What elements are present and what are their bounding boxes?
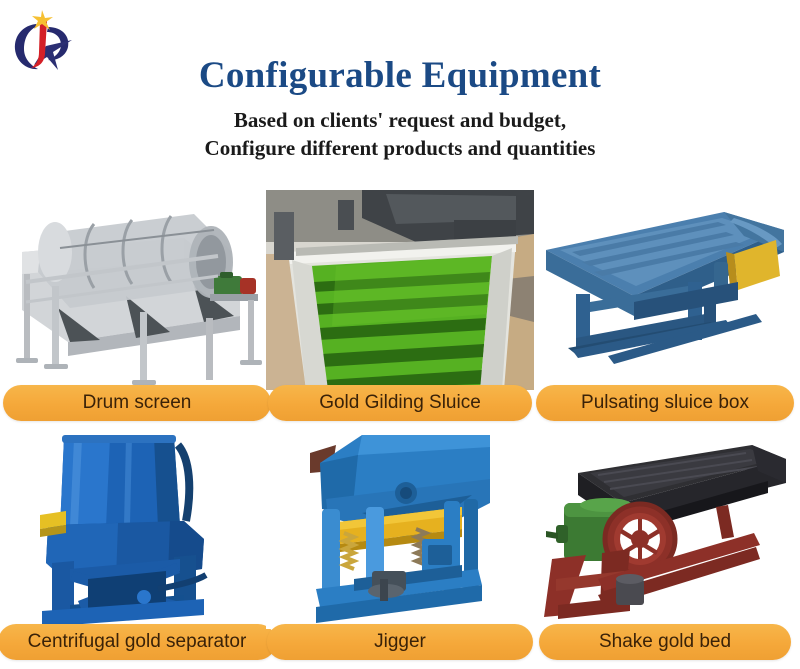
- product-grid: Drum screen: [0, 190, 800, 668]
- product-image-pulsating-sluice-box: [538, 190, 792, 390]
- product-image-drum-screen: [8, 190, 266, 390]
- product-label-shake-gold-bed[interactable]: Shake gold bed: [539, 624, 791, 660]
- product-card-jigger[interactable]: Jigger: [266, 429, 534, 668]
- product-image-centrifugal-gold-separator: [8, 429, 266, 629]
- poster-root: Configurable Equipment Based on clients'…: [0, 0, 800, 669]
- product-label-pulsating-sluice-box[interactable]: Pulsating sluice box: [536, 385, 794, 421]
- product-label-drum-screen[interactable]: Drum screen: [3, 385, 271, 421]
- product-row-2: Centrifugal gold separator: [0, 429, 800, 668]
- product-card-centrifugal-gold-separator[interactable]: Centrifugal gold separator: [8, 429, 266, 668]
- page-subtitle: Based on clients' request and budget, Co…: [0, 107, 800, 162]
- product-image-gold-gilding-sluice: [266, 190, 534, 390]
- product-card-gold-gilding-sluice[interactable]: Gold Gilding Sluice: [266, 190, 534, 429]
- product-card-pulsating-sluice-box[interactable]: Pulsating sluice box: [538, 190, 792, 429]
- product-label-centrifugal-gold-separator[interactable]: Centrifugal gold separator: [0, 624, 276, 660]
- subtitle-line-2: Configure different products and quantit…: [0, 135, 800, 163]
- product-label-jigger[interactable]: Jigger: [267, 624, 533, 660]
- product-label-gold-gilding-sluice[interactable]: Gold Gilding Sluice: [268, 385, 532, 421]
- product-card-drum-screen[interactable]: Drum screen: [8, 190, 266, 429]
- product-image-jigger: [266, 429, 534, 629]
- product-row-1: Drum screen: [0, 190, 800, 429]
- product-card-shake-gold-bed[interactable]: Shake gold bed: [538, 429, 792, 668]
- subtitle-line-1: Based on clients' request and budget,: [0, 107, 800, 135]
- product-image-shake-gold-bed: [538, 429, 792, 629]
- page-title: Configurable Equipment: [0, 56, 800, 96]
- header: Configurable Equipment Based on clients'…: [0, 56, 800, 162]
